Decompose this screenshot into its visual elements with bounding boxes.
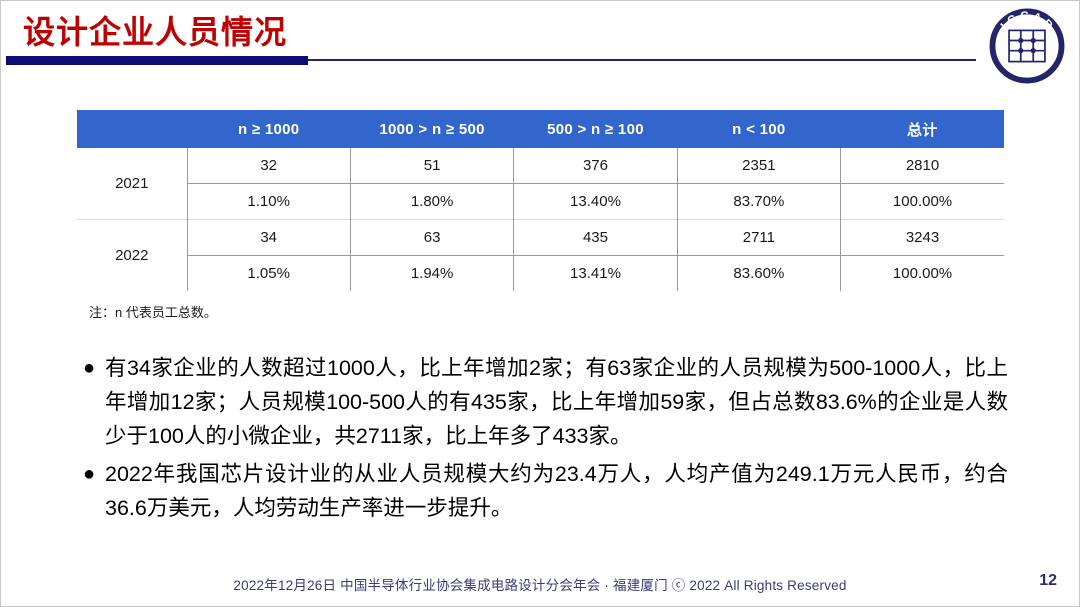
table-row: 1.10% 1.80% 13.40% 83.70% 100.00% [77, 184, 1004, 220]
cell-percent: 1.05% [187, 256, 350, 292]
cell-count: 2711 [677, 220, 840, 256]
cell-percent: 83.60% [677, 256, 840, 292]
table-header-col-1: n ≥ 1000 [187, 110, 350, 148]
cell-percent: 1.10% [187, 184, 350, 220]
title-underline-thin [308, 59, 976, 61]
table-row: 1.05% 1.94% 13.41% 83.60% 100.00% [77, 256, 1004, 292]
list-item: ● 2022年我国芯片设计业的从业人员规模大约为23.4万人，人均产值为249.… [83, 457, 1008, 525]
bullet-dot-icon: ● [83, 457, 105, 491]
cell-percent-total: 100.00% [841, 184, 1004, 220]
cell-count: 2351 [677, 148, 840, 184]
iccad-logo-icon: I C C A D 中国半导体行业协会集成电路设计分会 [988, 7, 1066, 85]
cell-percent: 13.40% [514, 184, 677, 220]
table-header-corner [77, 110, 187, 148]
personnel-table: n ≥ 1000 1000 > n ≥ 500 500 > n ≥ 100 n … [77, 110, 1004, 291]
cell-percent: 83.70% [677, 184, 840, 220]
table-header-col-4: n < 100 [677, 110, 840, 148]
title-underline-thick [6, 56, 308, 65]
cell-count-total: 2810 [841, 148, 1004, 184]
page-number: 12 [1039, 572, 1057, 590]
list-item: ● 有34家企业的人数超过1000人，比上年增加2家；有63家企业的人员规模为5… [83, 351, 1008, 453]
slide: 设计企业人员情况 I C C A D 中国半导体行业协会集成电路设计分会 [0, 0, 1080, 607]
cell-count: 51 [350, 148, 513, 184]
table-row: 2021 32 51 376 2351 2810 [77, 148, 1004, 184]
cell-count: 435 [514, 220, 677, 256]
cell-count: 376 [514, 148, 677, 184]
footer-text: 2022年12月26日 中国半导体行业协会集成电路设计分会年会 · 福建厦门 ⓒ… [1, 574, 1079, 594]
table-header-col-2: 1000 > n ≥ 500 [350, 110, 513, 148]
page-title: 设计企业人员情况 [23, 11, 287, 53]
bullet-dot-icon: ● [83, 351, 105, 385]
bullet-text: 2022年我国芯片设计业的从业人员规模大约为23.4万人，人均产值为249.1万… [105, 457, 1008, 525]
row-year-label: 2022 [77, 220, 187, 292]
bullet-text: 有34家企业的人数超过1000人，比上年增加2家；有63家企业的人员规模为500… [105, 351, 1008, 453]
table-header-row: n ≥ 1000 1000 > n ≥ 500 500 > n ≥ 100 n … [77, 110, 1004, 148]
row-year-label: 2021 [77, 148, 187, 220]
cell-percent-total: 100.00% [841, 256, 1004, 292]
table-row: 2022 34 63 435 2711 3243 [77, 220, 1004, 256]
bullet-list: ● 有34家企业的人数超过1000人，比上年增加2家；有63家企业的人员规模为5… [83, 351, 1008, 529]
cell-count: 63 [350, 220, 513, 256]
table-note: 注：n 代表员工总数。 [89, 302, 217, 321]
cell-percent: 13.41% [514, 256, 677, 292]
cell-count: 34 [187, 220, 350, 256]
cell-percent: 1.94% [350, 256, 513, 292]
cell-count-total: 3243 [841, 220, 1004, 256]
cell-percent: 1.80% [350, 184, 513, 220]
cell-count: 32 [187, 148, 350, 184]
footer: 2022年12月26日 中国半导体行业协会集成电路设计分会年会 · 福建厦门 ⓒ… [1, 574, 1079, 596]
table-header-col-3: 500 > n ≥ 100 [514, 110, 677, 148]
table-header-col-5: 总计 [841, 110, 1004, 148]
